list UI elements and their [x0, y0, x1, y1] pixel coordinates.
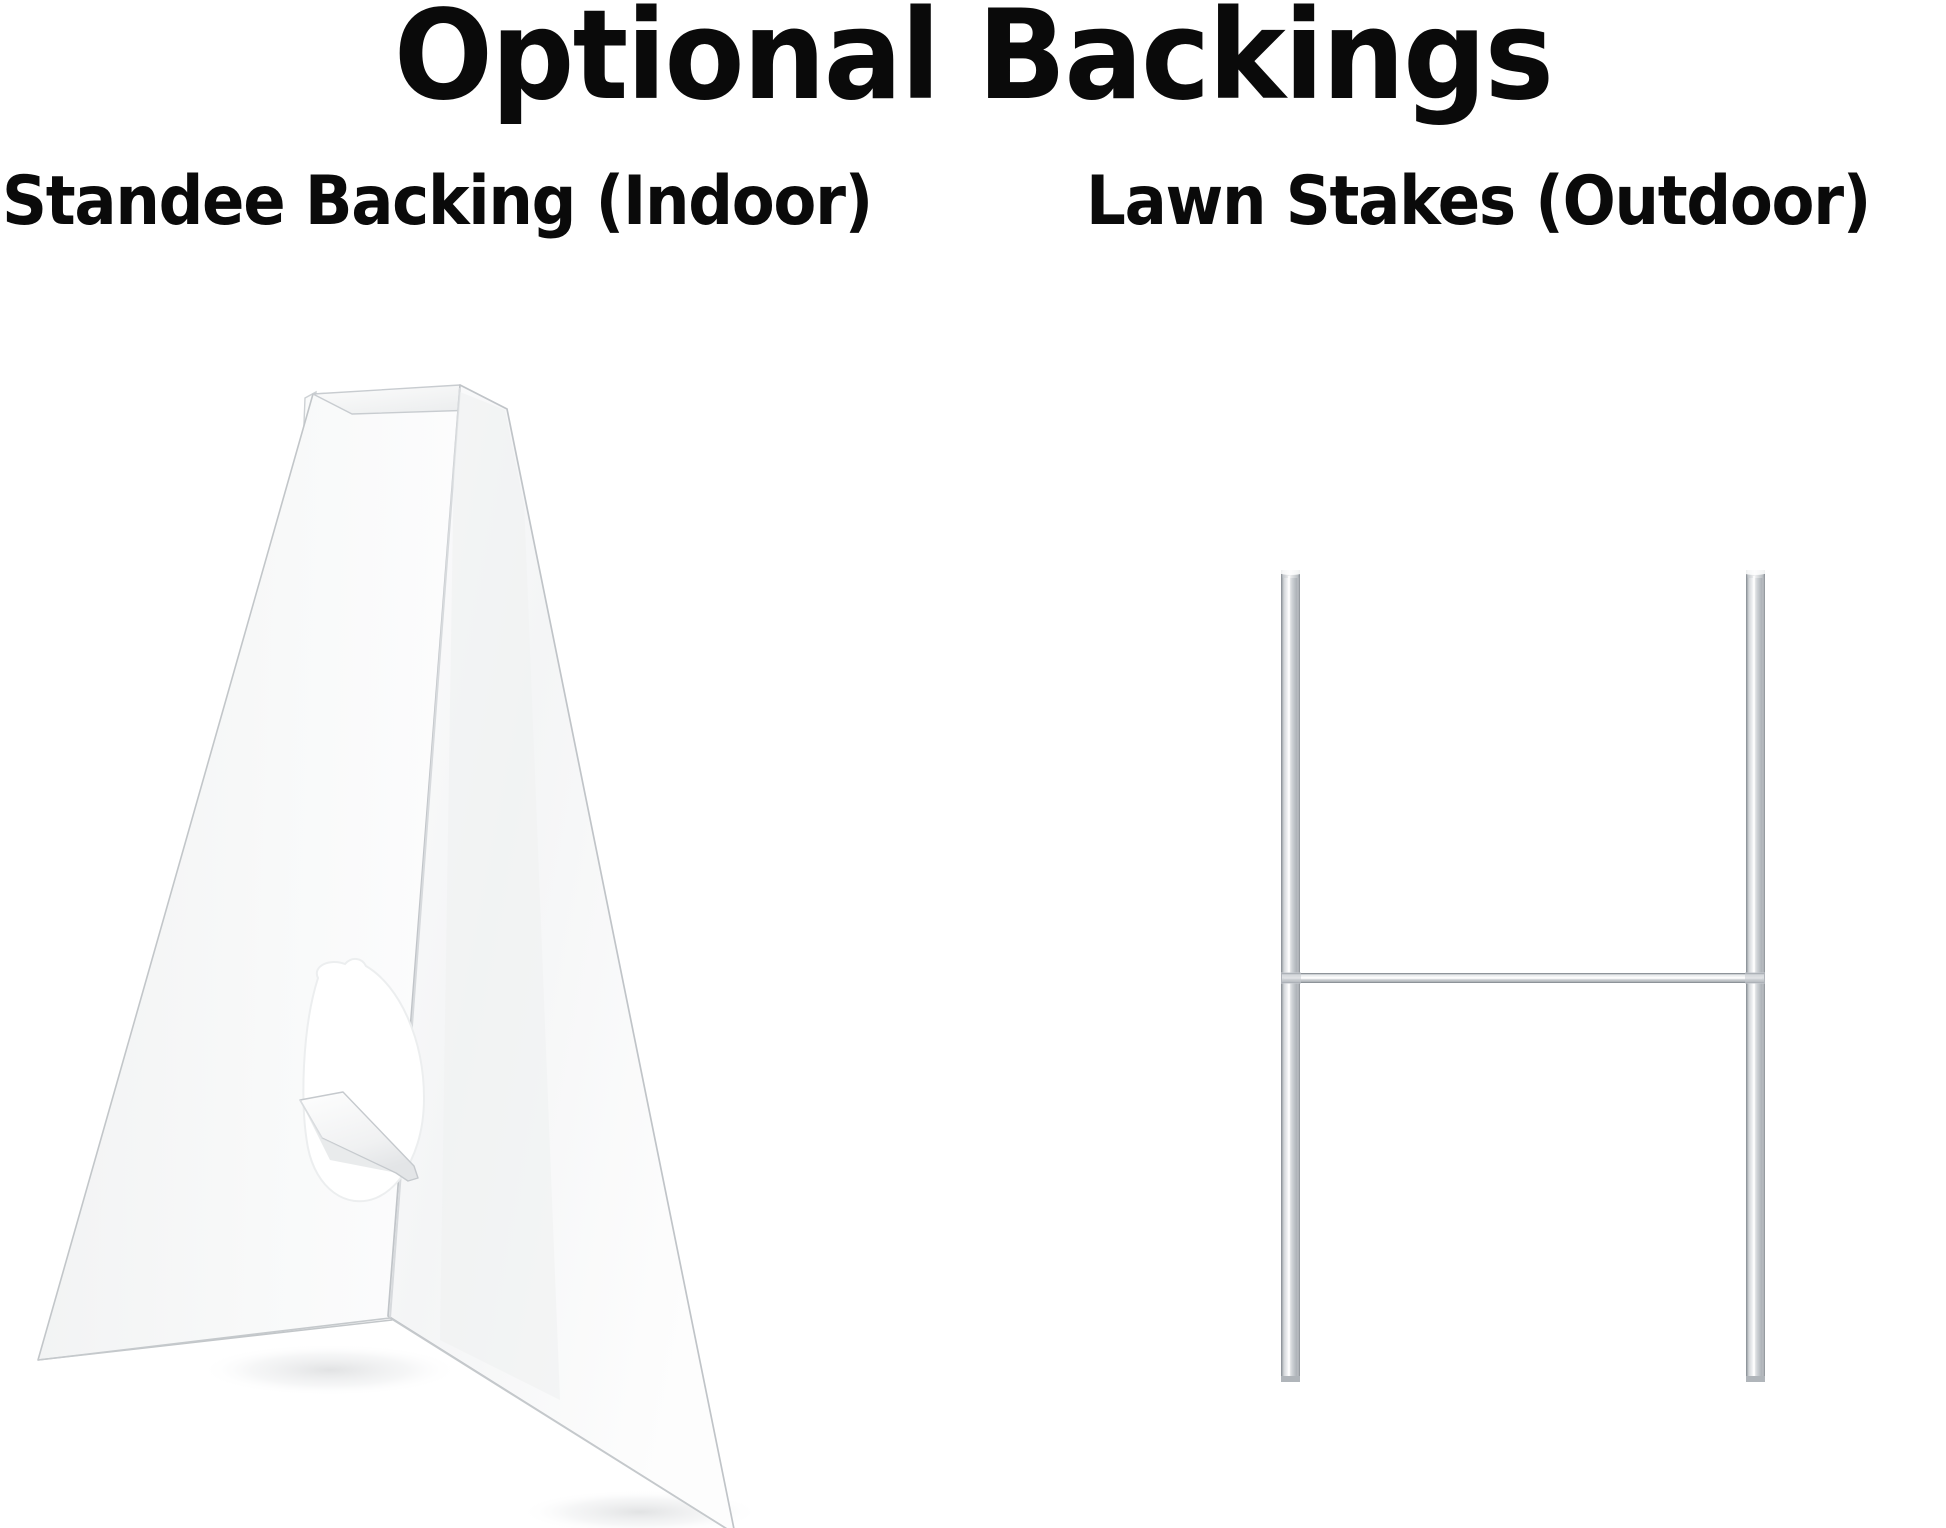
standee-drop-shadow [200, 1344, 460, 1396]
lawn-stake-right-joint [1745, 972, 1765, 984]
standee-backing-heading: Standee Backing (Indoor) [2, 168, 872, 236]
standee-backing-figure [0, 280, 960, 1528]
standee-backing-illustration [0, 280, 960, 1528]
lawn-stakes-illustration [986, 280, 1946, 1528]
lawn-stake-right-cap-glint [1737, 561, 1773, 575]
lawn-stake-left-joint [1281, 972, 1301, 984]
lawn-stakes-heading: Lawn Stakes (Outdoor) [1086, 168, 1870, 236]
lawn-stakes-figure [986, 280, 1946, 1528]
lawn-stake-crossbar [1282, 973, 1764, 983]
lawn-stake-left-cap-glint [1273, 561, 1309, 575]
page-title: Optional Backings [58, 0, 1887, 118]
